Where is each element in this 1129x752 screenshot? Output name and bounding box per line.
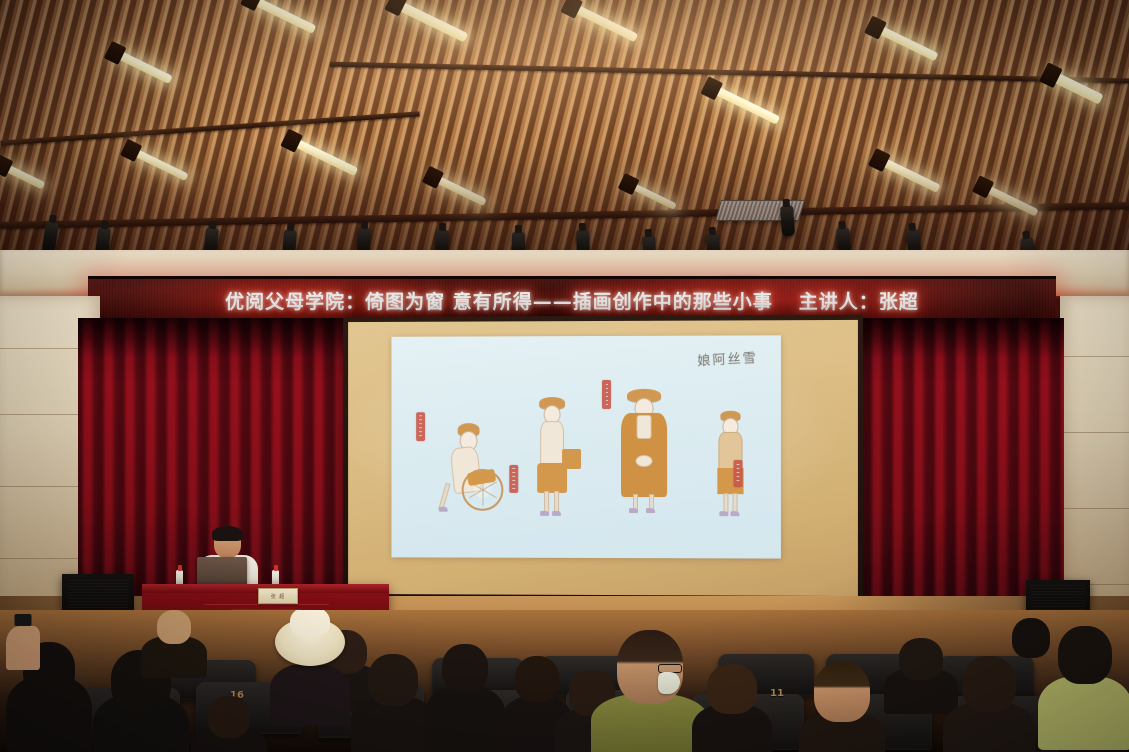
audience-member-raised-phone	[0, 614, 46, 674]
audience-member	[1048, 626, 1122, 746]
slide-figure-wheelchair	[438, 411, 499, 529]
person-shoulders	[270, 664, 350, 726]
figure-body	[540, 421, 564, 467]
audience-member	[890, 638, 952, 704]
person-head	[814, 662, 870, 722]
wall-panel-seam	[1060, 356, 1129, 357]
audience-member	[952, 656, 1026, 752]
auditorium-photo: 优阅父母学院：倚图为窗 意有所得——插画创作中的那些小事 主讲人：张超 娘阿丝雪	[0, 0, 1129, 752]
figure-shoe	[540, 511, 549, 516]
slide-label-tag-4	[734, 460, 743, 487]
audience-member	[146, 610, 202, 666]
audience-member	[200, 694, 258, 752]
wooden-slat-ceiling	[0, 0, 1129, 258]
wall-panel-seam	[1060, 508, 1129, 509]
figure-shoe	[439, 507, 448, 512]
curtain-shadow	[846, 318, 1064, 358]
figure-shoe	[629, 508, 638, 513]
person-head	[368, 654, 418, 706]
led-banner-title: 优阅父母学院：倚图为窗 意有所得——插画创作中的那些小事	[225, 287, 773, 314]
stage-spotlight	[780, 206, 795, 237]
slide-label-tag-3	[602, 380, 611, 409]
person-shoulders	[425, 686, 505, 752]
person-head	[442, 644, 488, 692]
slide-label-tag-1	[416, 412, 425, 441]
wall-panel-seam	[1060, 432, 1129, 433]
slide-calligraphy: 娘阿丝雪	[696, 347, 757, 369]
person-head	[962, 656, 1016, 712]
audience-member	[1008, 618, 1054, 662]
audience-member-white-hat	[272, 612, 348, 722]
person-head	[1058, 626, 1112, 684]
audience-member-child	[806, 662, 878, 752]
slide-figure-long-coat	[616, 389, 672, 529]
phone-device	[15, 614, 32, 626]
slide-figure-girl-bag	[710, 409, 750, 530]
person-arm	[6, 626, 40, 670]
figure-shoe	[719, 511, 728, 516]
projection-screen-surface: 娘阿丝雪	[348, 320, 858, 596]
figure-collar	[637, 415, 652, 439]
person-head	[707, 664, 757, 714]
led-banner-text-row: 优阅父母学院：倚图为窗 意有所得——插画创作中的那些小事 主讲人：张超	[88, 279, 1056, 321]
person-head	[157, 610, 191, 644]
figure-basket	[562, 449, 581, 469]
sun-hat	[275, 618, 345, 666]
presentation-slide: 娘阿丝雪	[391, 335, 781, 558]
projection-screen: 娘阿丝雪	[343, 315, 863, 601]
audience-member	[700, 664, 764, 752]
audience-member	[360, 654, 426, 752]
ceiling-shading	[0, 0, 1129, 258]
slide-figure-standing-basket	[530, 397, 574, 529]
person-head	[515, 656, 559, 702]
figure-shoe	[552, 511, 561, 516]
audience-member	[434, 640, 496, 750]
audience-area: 16 15 14 13 12 11 10	[0, 610, 1129, 752]
figure-shoe	[730, 511, 739, 516]
stage-curtain-right	[846, 318, 1064, 618]
nameplate-text: 张 超	[259, 589, 297, 603]
slide-label-tag-2	[509, 465, 518, 493]
figure-hands	[636, 455, 653, 467]
person-head	[899, 638, 943, 680]
led-banner-speaker: 主讲人：张超	[799, 287, 919, 314]
figure-shoe	[646, 508, 655, 513]
audience-member-masked-glasses	[602, 628, 698, 752]
person-head	[208, 696, 250, 738]
curtain-shadow	[78, 318, 368, 358]
presenter-nameplate: 张 超	[258, 588, 298, 604]
person-shoulders	[1038, 676, 1129, 750]
presenter-hair	[212, 526, 243, 541]
person-head	[1012, 618, 1050, 658]
